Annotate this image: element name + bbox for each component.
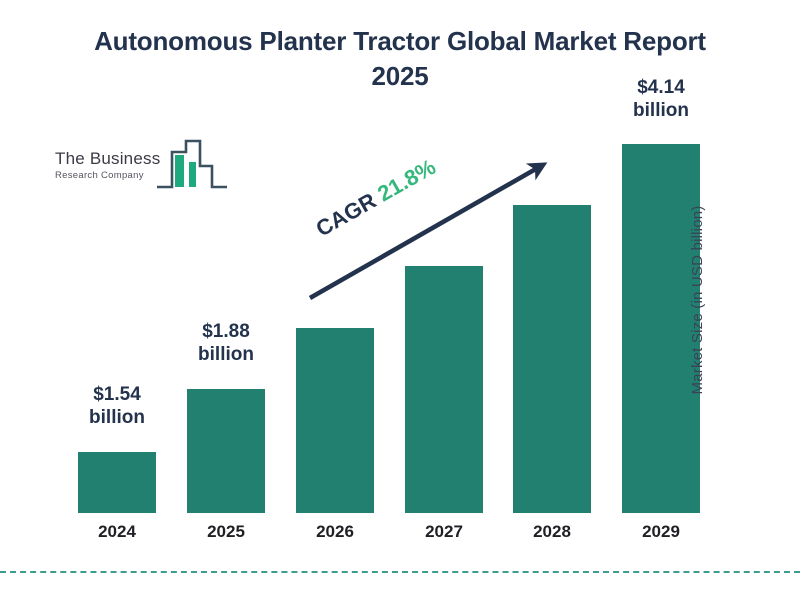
bar-2025 (187, 389, 265, 513)
bar-value-label-2029: $4.14 billion (622, 76, 700, 122)
bar-value-label-2024: $1.54 billion (78, 383, 156, 429)
bar-2026 (296, 328, 374, 513)
y-axis-title: Market Size (in USD billion) (689, 206, 706, 395)
bar-value-line-1: $1.54 (78, 383, 156, 406)
x-axis-label-2024: 2024 (78, 522, 156, 542)
bar-value-label-2025: $1.88 billion (187, 320, 265, 366)
x-axis-label-2029: 2029 (622, 522, 700, 542)
footer-divider (0, 571, 800, 573)
x-axis-label-2026: 2026 (296, 522, 374, 542)
bar-2027 (405, 266, 483, 513)
bar-value-line-1: $4.14 (622, 76, 700, 99)
x-axis-label-2025: 2025 (187, 522, 265, 542)
market-size-bar-chart: Autonomous Planter Tractor Global Market… (0, 0, 800, 600)
bar-value-line-2: billion (187, 343, 265, 366)
bar-value-line-1: $1.88 (187, 320, 265, 343)
plot-area: $1.54 billion $1.88 billion $4.14 billio… (0, 0, 800, 600)
x-axis-label-2027: 2027 (405, 522, 483, 542)
bar-value-line-2: billion (78, 406, 156, 429)
x-axis-label-2028: 2028 (513, 522, 591, 542)
bar-2024 (78, 452, 156, 513)
bar-value-line-2: billion (622, 99, 700, 122)
bar-2028 (513, 205, 591, 513)
